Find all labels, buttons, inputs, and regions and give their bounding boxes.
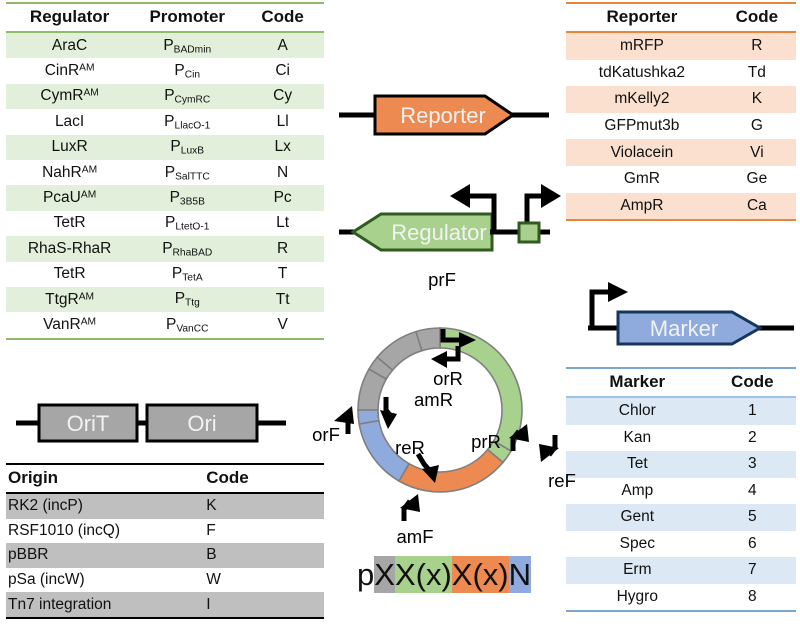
primer-arrow-amF xyxy=(400,494,420,521)
table-row: Spec6 xyxy=(566,531,796,558)
marker-part-diagram: Marker xyxy=(586,282,798,358)
cell-marker: Erm xyxy=(566,557,709,584)
cell-marker: Chlor xyxy=(566,397,709,425)
marker-promoter-arrowhead xyxy=(608,282,628,302)
cell-promoter: PTetA xyxy=(133,262,241,287)
cell-promoter: PVanCC xyxy=(133,312,241,338)
marker-part-svg: Marker xyxy=(586,282,798,358)
table-row: LacIPLlacO-1Ll xyxy=(6,109,324,134)
table-header-row: Regulator Promoter Code xyxy=(6,3,324,32)
table-row: RSF1010 (incQ)F xyxy=(6,519,324,544)
cell-regulator: LuxR xyxy=(6,135,133,160)
ori-part-svg: OriT Ori xyxy=(14,398,289,448)
cell-reporter: Violacein xyxy=(566,139,718,166)
plasmid-naming-code: pXX(x)X(x)N xyxy=(357,556,531,595)
primer-label-prF: prF xyxy=(428,269,456,290)
cell-regulator: AraC xyxy=(6,32,133,58)
table-row: Tn7 integrationI xyxy=(6,592,324,618)
code-segment-3: X(x) xyxy=(452,556,509,593)
column-header-code: Code xyxy=(709,368,796,397)
cell-marker: Spec xyxy=(566,531,709,558)
cell-code: 5 xyxy=(709,504,796,531)
table-row: Gent5 xyxy=(566,504,796,531)
table-row: mRFPR xyxy=(566,32,796,60)
cell-promoter: PCymRC xyxy=(133,84,241,109)
column-header-marker: Marker xyxy=(566,368,709,397)
cell-promoter: PBADmin xyxy=(133,32,241,58)
table-row: pBBRB xyxy=(6,543,324,568)
operator-box xyxy=(519,223,539,242)
marker-table: Marker Code Chlor1Kan2Tet3Amp4Gent5Spec6… xyxy=(566,367,796,612)
cell-code: 6 xyxy=(709,531,796,558)
cell-code: 4 xyxy=(709,478,796,505)
cell-code: Td xyxy=(718,60,796,87)
ori-label: Ori xyxy=(187,411,216,436)
table-row: LuxRPLuxBLx xyxy=(6,135,324,160)
code-segment-1: X xyxy=(374,556,395,593)
cell-regulator: VanRAM xyxy=(6,312,133,338)
primer-label-amF: amF xyxy=(397,526,434,547)
origin-table: Origin Code RK2 (incP)KRSF1010 (incQ)FpB… xyxy=(6,463,324,619)
table-row: Kan2 xyxy=(566,425,796,452)
cell-code: Lt xyxy=(241,211,324,236)
reporter-part-diagram: Reporter xyxy=(337,92,552,138)
table-row: mKelly2K xyxy=(566,86,796,113)
table-row: AmpRCa xyxy=(566,193,796,221)
cell-reporter: mRFP xyxy=(566,32,718,60)
table-row: NahRAMPSalTTCN xyxy=(6,160,324,185)
regulator-table-grid: Regulator Promoter Code AraCPBADminACinR… xyxy=(6,2,324,340)
cell-code: 2 xyxy=(709,425,796,452)
cell-origin: RK2 (incP) xyxy=(6,493,200,519)
cell-code: R xyxy=(718,32,796,60)
table-row: VanRAMPVanCCV xyxy=(6,312,324,338)
marker-table-grid: Marker Code Chlor1Kan2Tet3Amp4Gent5Spec6… xyxy=(566,367,796,612)
regulator-part-diagram: Regulator xyxy=(337,176,552,248)
cell-regulator: CinRAM xyxy=(6,58,133,83)
cell-code: Ca xyxy=(718,193,796,221)
cell-regulator: RhaS-RhaR xyxy=(6,236,133,261)
primer-arrow-reF xyxy=(539,435,559,462)
cell-marker: Amp xyxy=(566,478,709,505)
table-row: GFPmut3bG xyxy=(566,113,796,140)
cell-code: Lx xyxy=(241,135,324,160)
cell-code: A xyxy=(241,32,324,58)
table-row: Erm7 xyxy=(566,557,796,584)
plasmid-map-svg: prF orR amR orF reR amF xyxy=(300,258,580,548)
marker-arrow-label: Marker xyxy=(650,316,718,341)
table-header-row: Origin Code xyxy=(6,464,324,493)
code-segment-2: X(x) xyxy=(395,556,452,593)
table-row: tdKatushka2Td xyxy=(566,60,796,87)
cell-code: 7 xyxy=(709,557,796,584)
cell-code: Ll xyxy=(241,109,324,134)
table-row: Tet3 xyxy=(566,451,796,478)
primer-label-orF: orF xyxy=(312,424,340,445)
cell-code: Ge xyxy=(718,166,796,193)
table-row: Hygro8 xyxy=(566,584,796,612)
cell-code: Vi xyxy=(718,139,796,166)
cell-reporter: GmR xyxy=(566,166,718,193)
plasmid-segment-marker-tip xyxy=(358,410,379,424)
column-header-reporter: Reporter xyxy=(566,3,718,32)
table-row: RhaS-RhaRPRhaBADR xyxy=(6,236,324,261)
table-row: pSa (incW)W xyxy=(6,568,324,593)
table-row: ViolaceinVi xyxy=(566,139,796,166)
cell-promoter: P3B5B xyxy=(133,185,241,210)
cell-marker: Hygro xyxy=(566,584,709,612)
cell-regulator: CymRAM xyxy=(6,84,133,109)
reporter-table-grid: Reporter Code mRFPRtdKatushka2TdmKelly2K… xyxy=(566,2,796,221)
cell-regulator: TetR xyxy=(6,262,133,287)
cell-code: 8 xyxy=(709,584,796,612)
primer-label-prR: prR xyxy=(471,431,501,452)
table-row: CinRAMPCinCi xyxy=(6,58,324,83)
table-row: PcaUAMP3B5BPc xyxy=(6,185,324,210)
regulator-table: Regulator Promoter Code AraCPBADminACinR… xyxy=(6,2,324,340)
table-row: AraCPBADminA xyxy=(6,32,324,58)
promoter-left-arrowhead xyxy=(450,184,470,208)
primer-label-reR: reR xyxy=(395,437,425,458)
promoter-right-arrowhead xyxy=(541,184,561,208)
table-row: GmRGe xyxy=(566,166,796,193)
cell-origin: pBBR xyxy=(6,543,200,568)
origin-table-grid: Origin Code RK2 (incP)KRSF1010 (incQ)FpB… xyxy=(6,463,324,619)
column-header-origin: Origin xyxy=(6,464,200,493)
cell-reporter: mKelly2 xyxy=(566,86,718,113)
regulator-arrow-label: Regulator xyxy=(391,220,486,245)
ori-part-diagram: OriT Ori xyxy=(14,398,289,448)
primer-label-reF: reF xyxy=(548,470,576,491)
cell-marker: Kan xyxy=(566,425,709,452)
code-segment-0: p xyxy=(357,556,374,593)
table-row: TetRPTetAT xyxy=(6,262,324,287)
code-segment-4: N xyxy=(509,556,531,593)
cell-reporter: AmpR xyxy=(566,193,718,221)
cell-promoter: PLlacO-1 xyxy=(133,109,241,134)
table-row: Amp4 xyxy=(566,478,796,505)
cell-promoter: PRhaBAD xyxy=(133,236,241,261)
table-header-row: Reporter Code xyxy=(566,3,796,32)
cell-regulator: TtgRAM xyxy=(6,287,133,312)
cell-origin: RSF1010 (incQ) xyxy=(6,519,200,544)
cell-code: Ci xyxy=(241,58,324,83)
primer-arrow-amR xyxy=(380,397,397,429)
cell-code: K xyxy=(718,86,796,113)
cell-promoter: PCin xyxy=(133,58,241,83)
cell-regulator: LacI xyxy=(6,109,133,134)
cell-marker: Tet xyxy=(566,451,709,478)
column-header-promoter: Promoter xyxy=(133,3,241,32)
column-header-regulator: Regulator xyxy=(6,3,133,32)
column-header-code: Code xyxy=(718,3,796,32)
table-row: TetRPLtetO-1Lt xyxy=(6,211,324,236)
cell-regulator: PcaUAM xyxy=(6,185,133,210)
cell-marker: Gent xyxy=(566,504,709,531)
reporter-arrow-label: Reporter xyxy=(400,103,486,128)
table-row: CymRAMPCymRCCy xyxy=(6,84,324,109)
table-header-row: Marker Code xyxy=(566,368,796,397)
cell-promoter: PSalTTC xyxy=(133,160,241,185)
cell-regulator: TetR xyxy=(6,211,133,236)
primer-label-orR: orR xyxy=(433,368,463,389)
orit-label: OriT xyxy=(67,411,110,436)
cell-regulator: NahRAM xyxy=(6,160,133,185)
cell-origin: Tn7 integration xyxy=(6,592,200,618)
cell-promoter: PLtetO-1 xyxy=(133,211,241,236)
cell-code: N xyxy=(241,160,324,185)
reporter-part-svg: Reporter xyxy=(337,92,552,138)
primer-label-amR: amR xyxy=(414,389,453,410)
table-row: Chlor1 xyxy=(566,397,796,425)
cell-promoter: PLuxB xyxy=(133,135,241,160)
cell-code: Pc xyxy=(241,185,324,210)
table-row: RK2 (incP)K xyxy=(6,493,324,519)
cell-code: 3 xyxy=(709,451,796,478)
reporter-table: Reporter Code mRFPRtdKatushka2TdmKelly2K… xyxy=(566,2,796,221)
cell-code: Cy xyxy=(241,84,324,109)
cell-code: I xyxy=(200,592,324,618)
regulator-part-svg: Regulator xyxy=(337,176,552,248)
plasmid-map: prF orR amR orF reR amF xyxy=(300,258,580,548)
cell-reporter: GFPmut3b xyxy=(566,113,718,140)
cell-code: G xyxy=(718,113,796,140)
column-header-code: Code xyxy=(241,3,324,32)
table-row: TtgRAMPTtgTt xyxy=(6,287,324,312)
cell-promoter: PTtg xyxy=(133,287,241,312)
cell-code: W xyxy=(200,568,324,593)
cell-code: 1 xyxy=(709,397,796,425)
cell-reporter: tdKatushka2 xyxy=(566,60,718,87)
marker-promoter-stem xyxy=(592,292,610,326)
cell-origin: pSa (incW) xyxy=(6,568,200,593)
